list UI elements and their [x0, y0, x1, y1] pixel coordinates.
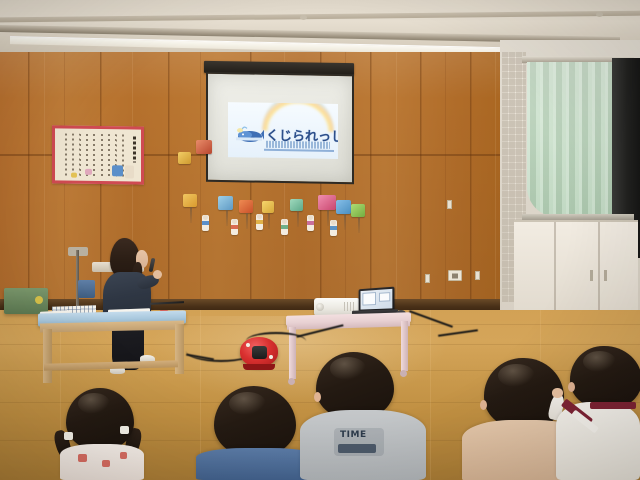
projection-screen: くじられっしゃ — [206, 72, 354, 185]
projector-vent — [344, 302, 356, 311]
doll-clothing — [330, 226, 337, 230]
child-hair — [316, 352, 394, 418]
reel-socket-block — [252, 346, 267, 359]
poster-heading — [133, 136, 136, 162]
box-emblem — [35, 296, 43, 304]
child-hair — [570, 346, 640, 408]
craft-kite-3 — [239, 200, 253, 213]
wood-grain-line — [44, 52, 45, 310]
craft-shape — [351, 204, 365, 217]
projected-slide: くじられっしゃ — [228, 102, 338, 159]
wall-switch[interactable] — [425, 274, 430, 283]
child-hand — [552, 388, 563, 398]
wood-grain-line — [495, 52, 496, 310]
laptop-display — [361, 289, 393, 310]
child-ear — [480, 400, 487, 410]
craft-kite-1 — [183, 194, 197, 207]
table-leg — [43, 329, 52, 383]
wall-switch[interactable] — [475, 271, 480, 280]
cabinet-handle[interactable] — [590, 270, 593, 281]
doll-clothing — [256, 220, 263, 224]
reel-base — [243, 364, 275, 370]
laptop-window — [362, 292, 376, 306]
child-ear — [568, 382, 575, 392]
paper-doll-figure — [231, 219, 238, 235]
poster-illustration-child — [125, 165, 134, 178]
slide-subtitle-band — [266, 141, 330, 149]
paper-doll-figure — [281, 219, 288, 235]
child-girl-pigtails — [54, 388, 170, 480]
craft-tail — [268, 213, 270, 229]
wood-grain-line — [445, 52, 446, 310]
green-storage-box — [4, 288, 48, 314]
poster-text-column — [79, 134, 81, 178]
poster-illustration-blue — [112, 165, 123, 176]
paper-doll-figure — [256, 214, 263, 230]
shirt-pattern — [120, 452, 127, 459]
wall-power-outlet[interactable] — [448, 270, 462, 281]
poster-text-column — [72, 134, 74, 178]
child-white-maroon — [556, 346, 640, 480]
paper-doll-figure — [307, 215, 314, 231]
poster-text-column — [65, 134, 67, 178]
paper-doll-figure — [330, 220, 337, 236]
child-hair — [214, 386, 296, 456]
shirt-collar-trim — [590, 402, 636, 409]
poster-text-column — [101, 134, 103, 178]
craft-shape — [262, 201, 274, 213]
ceiling-sprinkler — [596, 12, 603, 17]
doll-clothing — [202, 221, 209, 225]
poster-text-column — [93, 134, 95, 178]
reel-indicator — [246, 343, 250, 347]
craft-kite-4 — [262, 201, 274, 213]
reel-indicator — [269, 355, 273, 359]
shirt-graphic-detail — [338, 444, 376, 453]
whale-illustration — [234, 124, 264, 143]
cabinet-door-seam — [598, 222, 600, 310]
wood-grain-line — [200, 52, 201, 310]
craft-kite-left — [178, 152, 191, 164]
shirt-print-text: TIME — [340, 430, 367, 440]
classroom-presentation-scene: くじられっしゃ — [0, 0, 640, 480]
child-shirt — [556, 402, 640, 480]
wall-panel-seam — [420, 52, 422, 310]
wall-panel-seam — [370, 52, 372, 310]
craft-tail — [344, 214, 346, 230]
ceiling-seam — [0, 11, 640, 23]
poster-illustration-pink — [85, 169, 92, 175]
blue-bucket — [78, 280, 95, 298]
hair-tie-left — [64, 432, 73, 440]
table-caster — [288, 378, 295, 385]
storage-cabinet[interactable] — [514, 220, 638, 310]
craft-shape — [239, 200, 253, 213]
craft-kite-upper — [196, 140, 212, 154]
wood-grain-line — [396, 52, 397, 310]
craft-shape — [290, 199, 303, 211]
cabinet-door-seam — [554, 222, 556, 310]
craft-kite-2 — [218, 196, 233, 210]
red-cable-reel[interactable] — [240, 337, 278, 371]
craft-kite-5 — [290, 199, 303, 211]
paper-doll-figure — [202, 215, 209, 231]
wall-panel-seam — [168, 52, 170, 310]
projector-lens — [316, 303, 324, 311]
wall-panel-seam — [28, 52, 30, 310]
craft-shape — [336, 200, 351, 214]
doll-clothing — [231, 225, 238, 229]
craft-tail — [246, 213, 248, 229]
craft-shape — [178, 152, 191, 164]
child-ear — [314, 392, 321, 402]
poster-text-column — [108, 134, 110, 178]
wall-switch[interactable] — [447, 200, 452, 209]
craft-shape — [318, 195, 336, 210]
laptop-window — [379, 292, 390, 302]
craft-kite-7 — [336, 200, 351, 214]
ceiling-fixture-dot — [300, 15, 307, 20]
doll-clothing — [307, 221, 314, 225]
shirt-pattern — [78, 454, 87, 462]
craft-kite-8 — [351, 204, 365, 217]
cabinet-handle[interactable] — [604, 270, 607, 281]
craft-shape — [196, 140, 212, 154]
craft-tail — [190, 207, 192, 223]
craft-shape — [183, 194, 197, 207]
child-hair — [66, 388, 134, 450]
craft-tail — [327, 210, 329, 226]
doll-clothing — [281, 225, 288, 229]
presenter-hand — [153, 270, 162, 279]
craft-shape — [218, 196, 233, 210]
hair-tie-right — [120, 426, 129, 434]
poster-illustration-yellow — [71, 173, 77, 178]
child-gray-shirt: TIME — [300, 352, 428, 480]
craft-tail — [297, 211, 299, 227]
craft-kite-6 — [318, 195, 336, 210]
craft-tail — [226, 210, 228, 226]
japanese-text-poster — [52, 125, 144, 184]
shirt-pattern — [102, 460, 110, 467]
slide-underline — [264, 149, 334, 152]
wall-panel-seam — [470, 52, 472, 310]
craft-tail — [358, 217, 360, 233]
